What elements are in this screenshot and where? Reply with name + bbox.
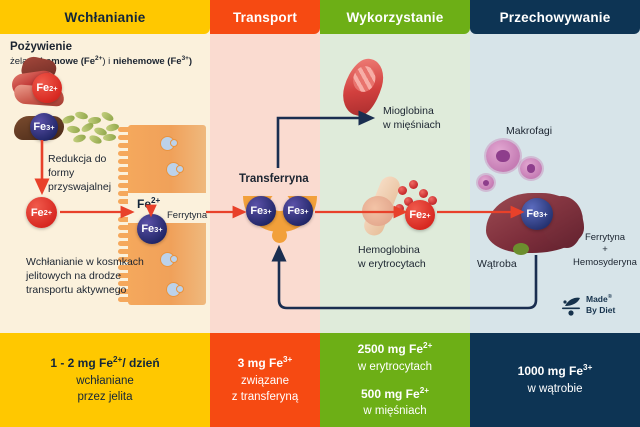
footer-line2-3: w wątrobie [528, 381, 583, 398]
footer-line4-2: w mięśniach [363, 403, 426, 420]
footer-bold-3: 1000 mg Fe3+ [518, 362, 593, 380]
footer-bar-use: 2500 mg Fe2+ w erytrocytach 500 mg Fe2+ … [320, 333, 470, 427]
footer-summary: 1 - 2 mg Fe2+/ dzień wchłaniane przez je… [0, 333, 640, 427]
footer-bold-2a: 2500 mg Fe2+ [358, 340, 433, 358]
footer-bold-1: 3 mg Fe3+ [238, 354, 293, 372]
arrow-transferrin-to-myoglobin [278, 118, 372, 168]
footer-bold-2b: 500 mg Fe2+ [361, 385, 429, 403]
footer-bar-transport: 3 mg Fe3+ związane z transferyną [210, 333, 320, 427]
footer-line2-1: związane [241, 373, 289, 390]
iron-metabolism-infographic: Wchłanianie Transport Wykorzystanie Prze… [0, 0, 640, 427]
footer-line3-1: z transferyną [232, 389, 298, 406]
footer-line3-0: przez jelita [78, 389, 133, 406]
footer-bar-absorption: 1 - 2 mg Fe2+/ dzień wchłaniane przez je… [0, 333, 210, 427]
footer-line2-0: wchłaniane [76, 373, 134, 390]
footer-bar-storage: 1000 mg Fe3+ w wątrobie [470, 333, 640, 427]
footer-bold-0: 1 - 2 mg Fe2+/ dzień [50, 354, 159, 372]
arrow-liver-recycle-loop [279, 248, 536, 308]
footer-line2-2: w erytrocytach [358, 359, 432, 376]
